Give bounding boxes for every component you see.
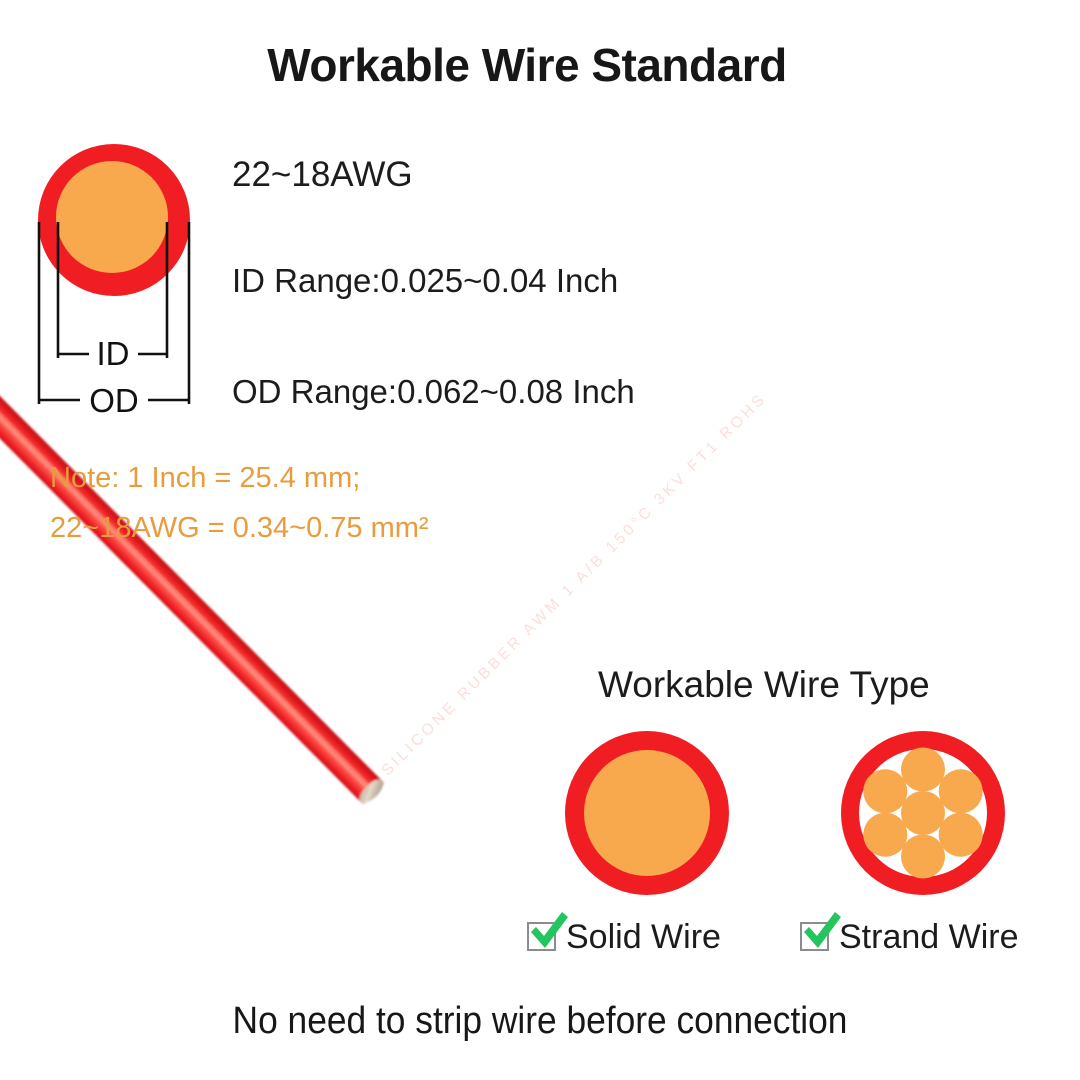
check-icon [798, 909, 844, 955]
unit-conversion-note: Note: 1 Inch = 25.4 mm; 22~18AWG = 0.34~… [50, 453, 429, 553]
strand-wire-cross-section [838, 728, 1008, 898]
wire-cross-section-diagram: ID OD [34, 142, 234, 422]
solid-wire-label: Solid Wire [566, 918, 721, 957]
note-line-2: 22~18AWG = 0.34~0.75 mm² [50, 503, 429, 553]
note-line-1: Note: 1 Inch = 25.4 mm; [50, 453, 429, 503]
od-range-spec: OD Range:0.062~0.08 Inch [232, 373, 635, 411]
strand-wire-label: Strand Wire [839, 918, 1019, 957]
wire-type-heading: Workable Wire Type [598, 664, 930, 706]
od-dimension-label: OD [89, 382, 139, 419]
solid-wire-checkbox[interactable] [527, 921, 560, 954]
awg-spec: 22~18AWG [232, 155, 413, 195]
page-title: Workable Wire Standard [0, 38, 1067, 92]
solid-wire-cross-section [562, 728, 732, 898]
id-dimension-label: ID [97, 335, 130, 372]
solid-wire-option[interactable]: Solid Wire [527, 918, 721, 957]
strand-wire-option[interactable]: Strand Wire [800, 918, 1019, 957]
conductor-circle [56, 161, 168, 273]
footer-note: No need to strip wire before connection [38, 1000, 1042, 1043]
check-icon [525, 909, 571, 955]
id-range-spec: ID Range:0.025~0.04 Inch [232, 262, 618, 300]
wire-printed-marking: SILICONE RUBBER AWM 1 A/B 150°C 3KV FT1 … [378, 390, 770, 780]
strand-wire-checkbox[interactable] [800, 921, 833, 954]
infographic-canvas: SILICONE RUBBER AWM 1 A/B 150°C 3KV FT1 … [0, 0, 1080, 1080]
